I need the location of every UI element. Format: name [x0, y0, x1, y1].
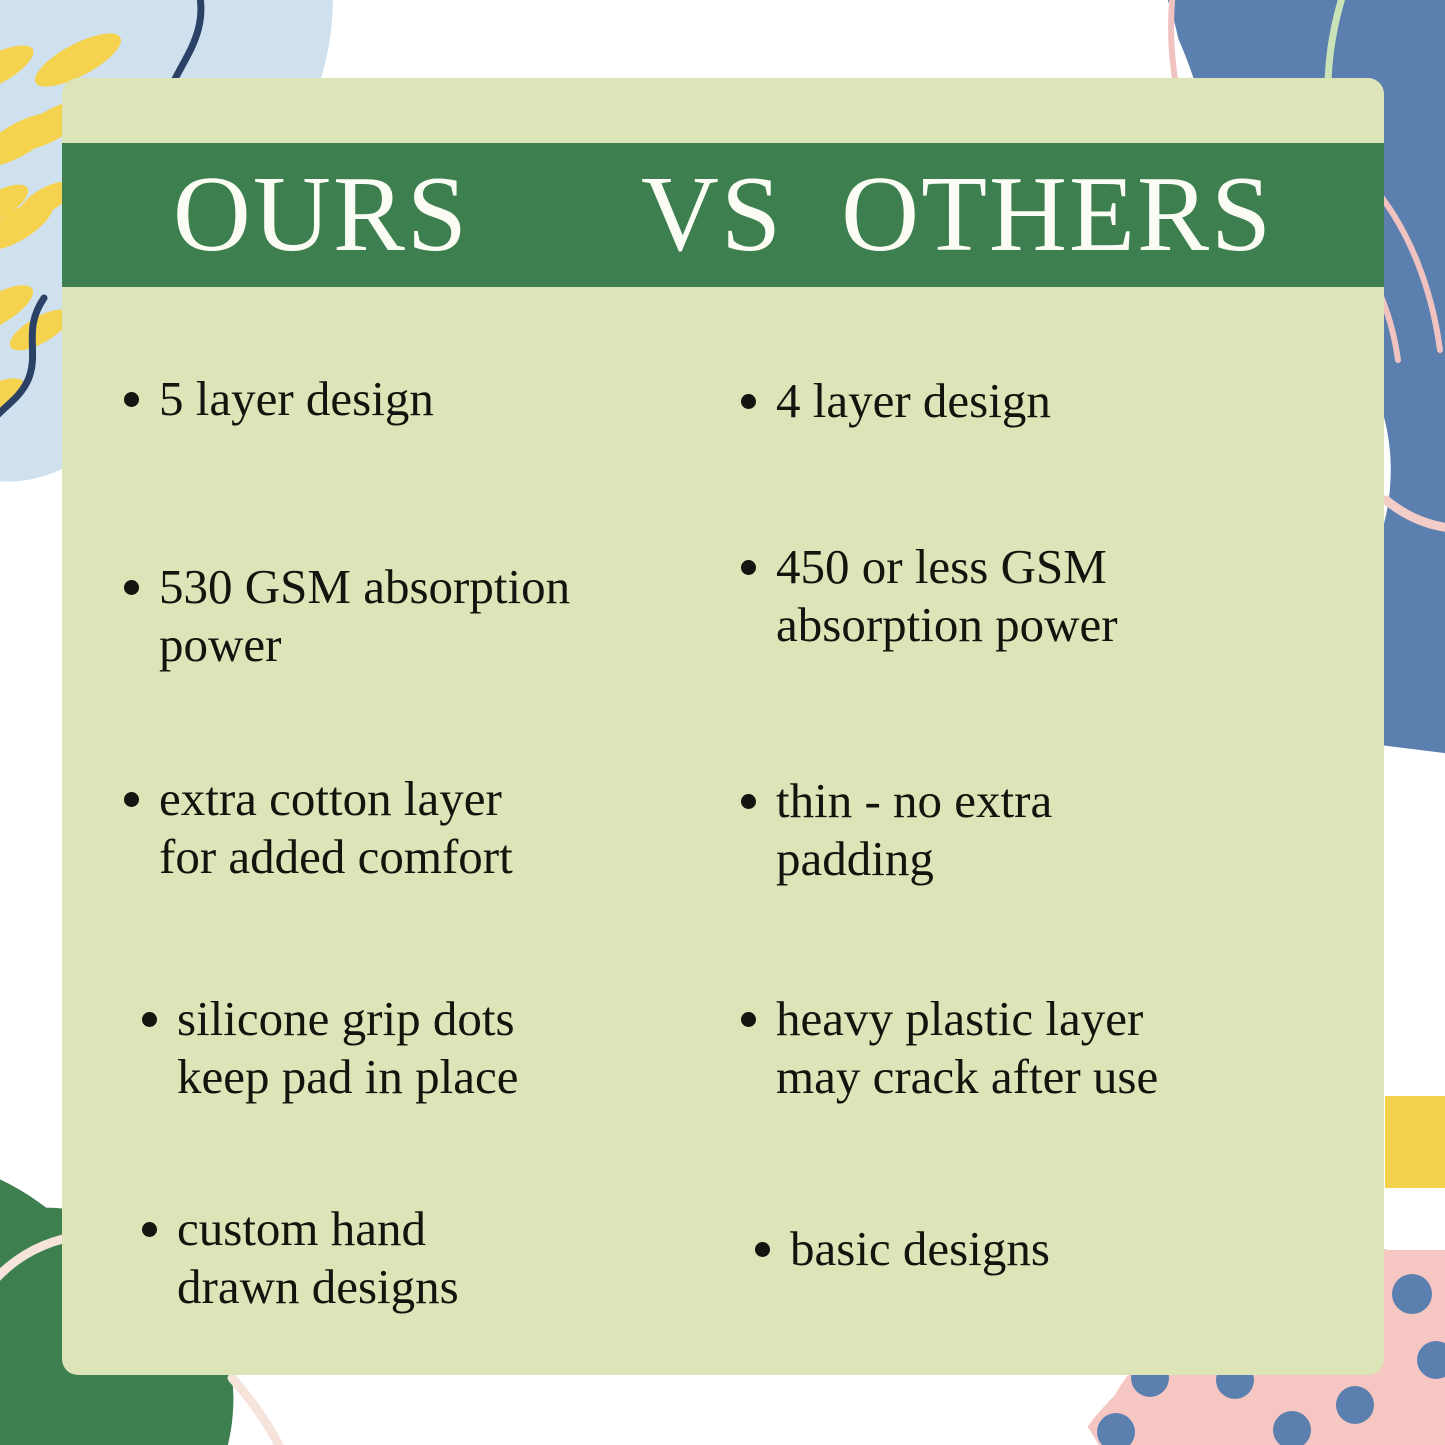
title-banner: OURS VS OTHERS — [62, 143, 1384, 287]
list-item: thin - no extra padding — [741, 772, 1052, 888]
page-title: OURS VS OTHERS — [173, 161, 1273, 269]
bullet-dot-icon — [755, 1242, 770, 1257]
comparison-columns: 5 layer design 530 GSM absorption power … — [62, 300, 1384, 1375]
ours-item-text: 530 GSM absorption power — [159, 558, 570, 674]
ours-item-text: silicone grip dots keep pad in place — [177, 990, 518, 1106]
bullet-dot-icon — [741, 1012, 756, 1027]
others-item-text: 450 or less GSM absorption power — [776, 538, 1118, 654]
list-item: extra cotton layer for added comfort — [124, 770, 513, 886]
list-item: 5 layer design — [124, 370, 434, 428]
list-item: 530 GSM absorption power — [124, 558, 570, 674]
bullet-dot-icon — [124, 392, 139, 407]
bullet-dot-icon — [142, 1222, 157, 1237]
list-item: 4 layer design — [741, 372, 1051, 430]
list-item: silicone grip dots keep pad in place — [142, 990, 518, 1106]
ours-column: 5 layer design 530 GSM absorption power … — [62, 300, 723, 1375]
blush-curve-bottom-left-2 — [232, 1378, 300, 1445]
yellow-block-bottom-right — [1385, 1096, 1445, 1188]
others-item-text: thin - no extra padding — [776, 772, 1052, 888]
list-item: heavy plastic layer may crack after use — [741, 990, 1158, 1106]
bullet-dot-icon — [741, 394, 756, 409]
others-item-text: heavy plastic layer may crack after use — [776, 990, 1158, 1106]
others-item-text: basic designs — [790, 1220, 1050, 1278]
others-item-text: 4 layer design — [776, 372, 1051, 430]
polka-dot — [1336, 1386, 1374, 1424]
bullet-dot-icon — [741, 560, 756, 575]
list-item: custom hand drawn designs — [142, 1200, 459, 1316]
comparison-poster: OURS VS OTHERS 5 layer design 530 GSM ab… — [0, 0, 1445, 1445]
list-item: basic designs — [755, 1220, 1050, 1278]
bullet-dot-icon — [142, 1012, 157, 1027]
others-column: 4 layer design 450 or less GSM absorptio… — [723, 300, 1384, 1375]
bullet-dot-icon — [741, 794, 756, 809]
ours-item-text: custom hand drawn designs — [177, 1200, 459, 1316]
ours-item-text: 5 layer design — [159, 370, 434, 428]
bullet-dot-icon — [124, 580, 139, 595]
bullet-dot-icon — [124, 792, 139, 807]
polka-dot — [1392, 1274, 1432, 1314]
ours-item-text: extra cotton layer for added comfort — [159, 770, 513, 886]
list-item: 450 or less GSM absorption power — [741, 538, 1118, 654]
